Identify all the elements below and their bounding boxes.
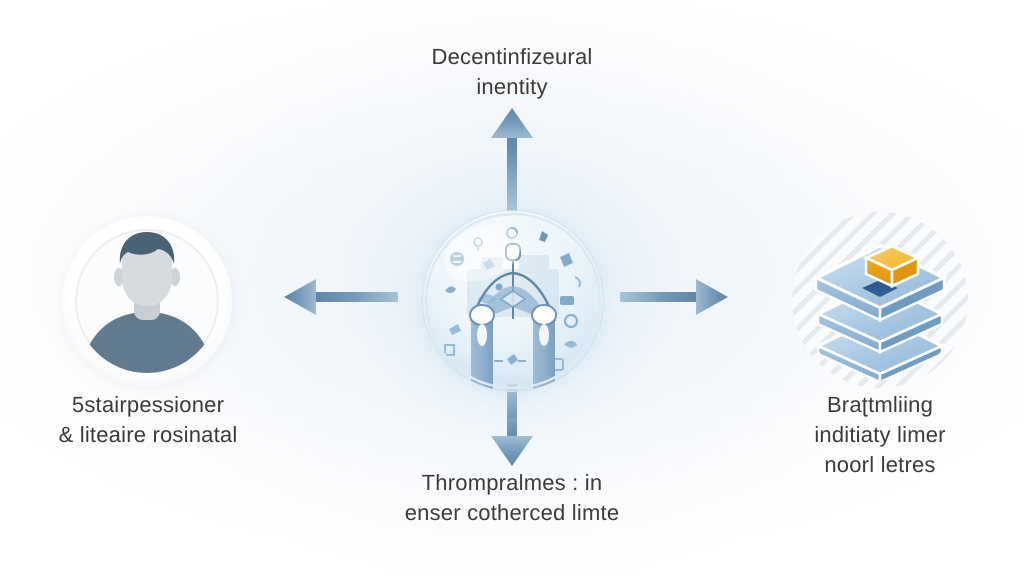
- node-left-user: [62, 216, 232, 386]
- node-label-right: Braʈtmliing inditiaty limer noorl letres: [740, 390, 1020, 480]
- node-label-top: Decentinfizeural inentity: [332, 42, 692, 102]
- node-right-blockchain: [792, 212, 968, 388]
- hub-connector-stub: [508, 392, 517, 418]
- blockchain-stack-icon: [792, 212, 968, 388]
- diagram-canvas: Decentinfizeural inentity Thrompralmes :…: [0, 0, 1024, 576]
- node-label-bottom: Thrompralmes : in enser cotherced limte: [332, 468, 692, 528]
- user-avatar-icon: [62, 216, 232, 386]
- center-hub-node: [412, 202, 612, 398]
- node-label-left: 5stairpessioner & liteaire rosinatal: [8, 390, 288, 450]
- glass-sphere-network-icon: [422, 210, 604, 392]
